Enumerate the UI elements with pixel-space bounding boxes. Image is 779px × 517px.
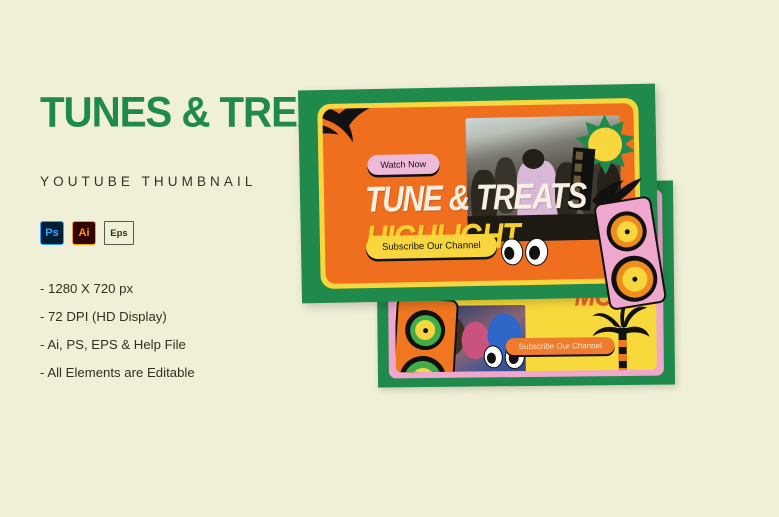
illustrator-badge: Ai [72, 221, 96, 245]
front-card-subscribe-button[interactable]: Subscribe Our Channel [366, 234, 497, 260]
bird-icon [322, 103, 389, 155]
front-card-title-line1: TUNE & TREATS [365, 180, 586, 217]
canvas: TUNES & TREATS YOUTUBE THUMBNAIL Ps Ai E… [0, 0, 779, 517]
thumbnail-mockup-front: Watch Now TUNE & TREATS HIGHLIGHT Su [298, 84, 659, 304]
page-title: TUNES & TREATS [40, 92, 305, 135]
watch-now-button[interactable]: Watch Now [367, 154, 439, 175]
speaker-icon [593, 195, 667, 311]
list-item: - 1280 X 720 px [40, 281, 290, 296]
list-item: - All Elements are Editable [40, 365, 290, 380]
photoshop-badge: Ps [40, 221, 64, 245]
feature-list: - 1280 X 720 px - 72 DPI (HD Display) - … [40, 281, 290, 380]
format-badge-group: Ps Ai Eps [40, 221, 290, 245]
info-panel: TUNES & TREATS YOUTUBE THUMBNAIL Ps Ai E… [40, 92, 290, 393]
eyes-icon [501, 238, 549, 267]
list-item: - Ai, PS, EPS & Help File [40, 337, 290, 352]
speaker-icon [394, 296, 459, 372]
list-item: - 72 DPI (HD Display) [40, 309, 290, 324]
page-subtitle: YOUTUBE THUMBNAIL [40, 174, 290, 189]
eps-badge: Eps [104, 221, 134, 245]
